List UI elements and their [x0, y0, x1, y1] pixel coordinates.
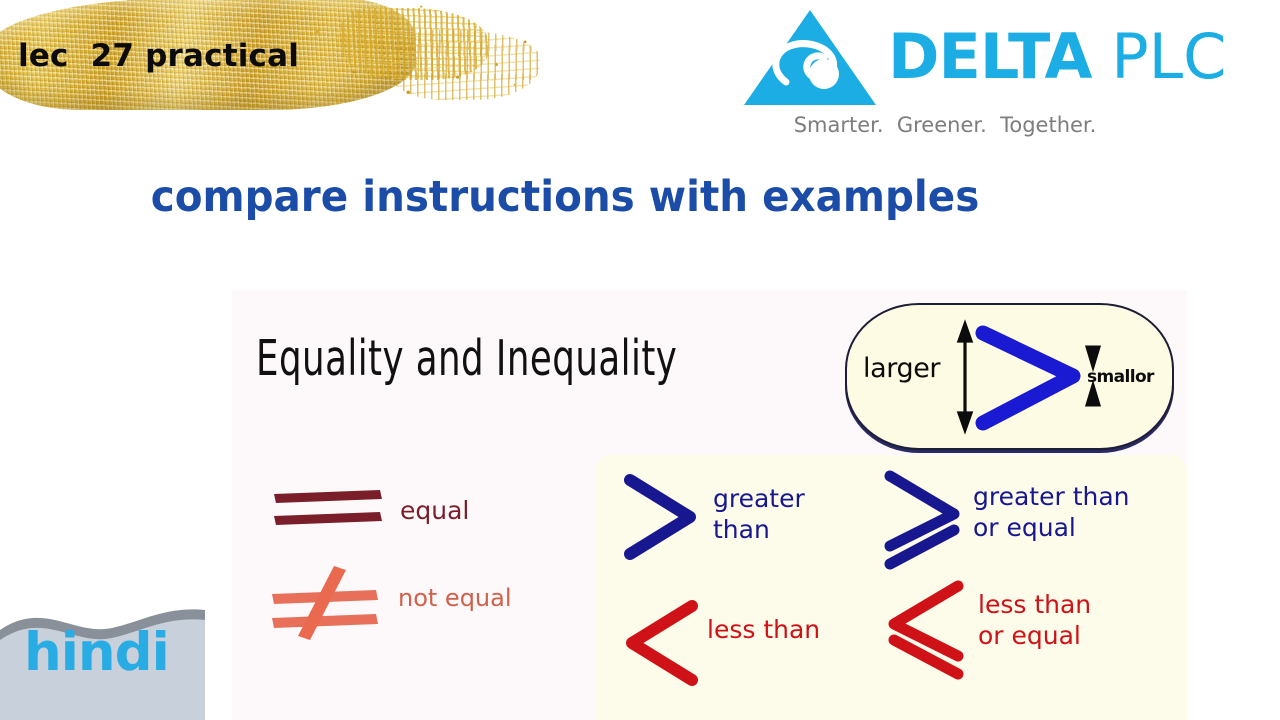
gold-brush-speckles [286, 0, 546, 120]
greater-than-or-equal-label: greater than or equal [973, 482, 1130, 543]
not-equal-symbol-icon [268, 564, 388, 642]
delta-wordmark: DELTA PLC [888, 26, 1226, 88]
less-than-symbol-icon [620, 598, 705, 688]
less-than-label: less than [707, 615, 820, 646]
delta-product-text: PLC [1092, 20, 1227, 93]
card-heading: Equality and Inequality [256, 330, 677, 387]
page-title: compare instructions with examples [34, 172, 1096, 222]
delta-plc-logo: DELTA PLC Smarter. Greener. Together. [740, 8, 1260, 138]
greater-than-label: greater than [713, 484, 805, 545]
delta-brand-text: DELTA [888, 20, 1092, 93]
less-than-or-equal-label: less than or equal [978, 590, 1091, 651]
delta-tagline: Smarter. Greener. Together. [745, 113, 1145, 137]
equal-symbol-icon [270, 480, 390, 535]
pill-greater-than-symbol-icon [983, 333, 1073, 423]
language-badge: hindi [0, 592, 205, 720]
greater-than-or-equal-symbol-icon [880, 468, 972, 578]
slide-canvas: lec 27 practical DELTA PLC Smarter. Gree… [0, 0, 1280, 720]
not-equal-label: not equal [398, 584, 512, 613]
language-badge-label: hindi [24, 622, 169, 683]
less-than-or-equal-symbol-icon [880, 578, 972, 688]
larger-height-arrow-icon [959, 324, 971, 430]
larger-smaller-illustration: larger smallor [845, 303, 1174, 450]
pill-graphics [847, 305, 1172, 448]
delta-triangle-swirl-icon [740, 8, 880, 108]
lecture-number-label: lec 27 practical [18, 38, 299, 74]
smaller-height-arrow-icon [1087, 347, 1099, 405]
equal-label: equal [400, 496, 469, 527]
greater-than-symbol-icon [620, 472, 705, 562]
